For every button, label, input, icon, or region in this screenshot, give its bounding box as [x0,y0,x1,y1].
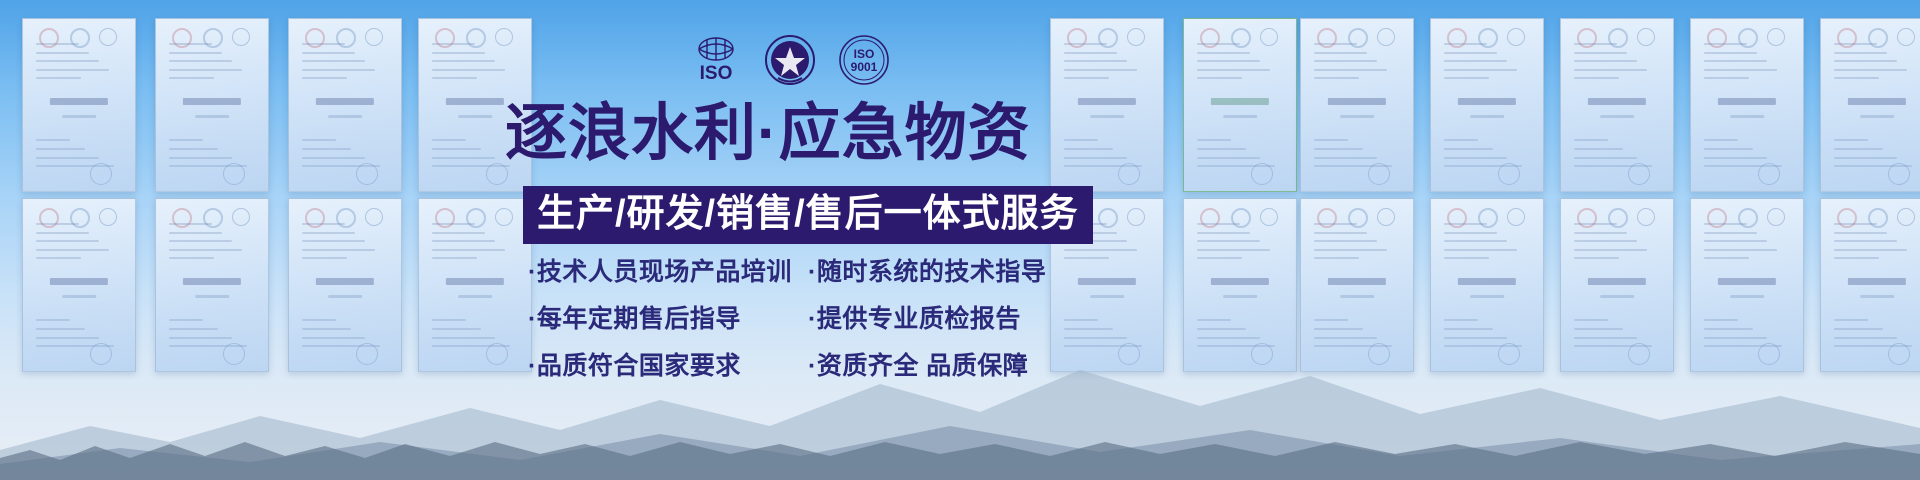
certificate-thumbnail [1820,18,1920,192]
banner-subtitle-bar: 生产/研发/销售/售后一体式服务 [523,186,1093,244]
feature-item: ·提供专业质检报告 [808,299,1058,335]
cqc-circular-badge [764,34,816,86]
certificate-thumbnail [22,18,136,192]
promo-banner: ISO ISO 9001 逐浪水利·应急物资 生产/研发/销售/售后一体式服务 [0,0,1920,480]
svg-text:ISO: ISO [700,63,733,84]
certification-badges: ISO ISO 9001 [690,32,890,88]
svg-text:ISO: ISO [854,47,875,61]
certificate-thumbnail [1690,18,1804,192]
banner-headline: 逐浪水利·应急物资 [505,98,1085,170]
iso-9001-badge: ISO 9001 [838,34,890,86]
feature-item: ·随时系统的技术指导 [808,252,1058,288]
iso-globe-badge: ISO [690,34,742,86]
feature-item: ·技术人员现场产品培训 [528,252,808,288]
certificate-thumbnail [155,18,269,192]
feature-row: ·品质符合国家要求 ·资质齐全 品质保障 [528,340,1068,387]
svg-text:9001: 9001 [851,60,878,74]
feature-row: ·技术人员现场产品培训 ·随时系统的技术指导 [528,246,1068,293]
certificate-thumbnail [1430,18,1544,192]
certificate-thumbnail [1183,18,1297,192]
feature-item: ·每年定期售后指导 [528,299,808,335]
certificate-thumbnail [1560,18,1674,192]
feature-list: ·技术人员现场产品培训 ·随时系统的技术指导 ·每年定期售后指导 ·提供专业质检… [528,246,1068,387]
feature-item: ·品质符合国家要求 [528,346,808,382]
feature-item: ·资质齐全 品质保障 [808,346,1058,382]
feature-row: ·每年定期售后指导 ·提供专业质检报告 [528,293,1068,340]
certificate-thumbnail [288,18,402,192]
certificate-thumbnail [1300,18,1414,192]
treeline-silhouette [0,410,1920,480]
